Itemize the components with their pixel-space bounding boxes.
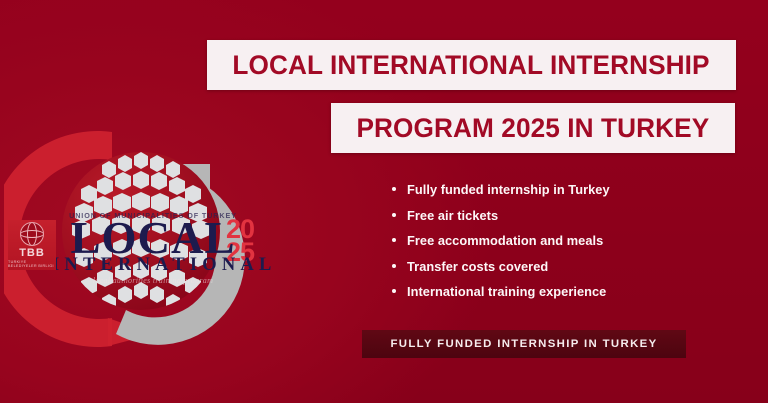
bullet-dot-icon	[392, 187, 396, 191]
bullet-dot-icon	[392, 289, 396, 293]
list-item: Free accommodation and meals	[392, 233, 712, 248]
list-item: International training experience	[392, 284, 712, 299]
logo-wordmark: UNION OF MUNICIPALITIES OF TURKEY LOCAL …	[48, 212, 258, 285]
title-band-line2: PROGRAM 2025 IN TURKEY	[331, 103, 735, 153]
bullet-dot-icon	[392, 264, 396, 268]
title-band-line1: LOCAL INTERNATIONAL INTERNSHIP	[207, 40, 736, 90]
logo-tagline: local authorities training program	[48, 277, 258, 285]
bullet-dot-icon	[392, 238, 396, 242]
logo-word-international: INTERNATIONAL	[52, 256, 258, 275]
benefit-label: International training experience	[407, 284, 606, 299]
tbb-badge-name: TBB	[19, 247, 45, 259]
benefit-label: Free accommodation and meals	[407, 233, 603, 248]
tbb-globe-icon	[20, 222, 44, 246]
benefit-label: Transfer costs covered	[407, 259, 548, 274]
benefit-label: Fully funded internship in Turkey	[407, 182, 610, 197]
list-item: Free air tickets	[392, 208, 712, 223]
program-logo: 20 25 UNION OF MUNICIPALITIES OF TURKEY …	[4, 120, 304, 370]
list-item: Fully funded internship in Turkey	[392, 182, 712, 197]
logo-word-local: LOCAL	[48, 218, 258, 259]
fully-funded-banner: FULLY FUNDED INTERNSHIP IN TURKEY	[362, 330, 686, 358]
benefits-list: Fully funded internship in Turkey Free a…	[392, 182, 712, 310]
tbb-badge: TBB TURKIYE BELEDIYELER BIRLIGI	[8, 220, 56, 270]
tbb-badge-subtitle: TURKIYE BELEDIYELER BIRLIGI	[8, 260, 56, 268]
benefit-label: Free air tickets	[407, 208, 498, 223]
banner-text: FULLY FUNDED INTERNSHIP IN TURKEY	[390, 338, 657, 350]
title-line1-text: LOCAL INTERNATIONAL INTERNSHIP	[233, 50, 710, 81]
title-line2-text: PROGRAM 2025 IN TURKEY	[357, 113, 710, 144]
bullet-dot-icon	[392, 213, 396, 217]
logo-union-line: UNION OF MUNICIPALITIES OF TURKEY	[48, 212, 258, 219]
poster-canvas: 20 25 UNION OF MUNICIPALITIES OF TURKEY …	[0, 0, 768, 403]
list-item: Transfer costs covered	[392, 259, 712, 274]
